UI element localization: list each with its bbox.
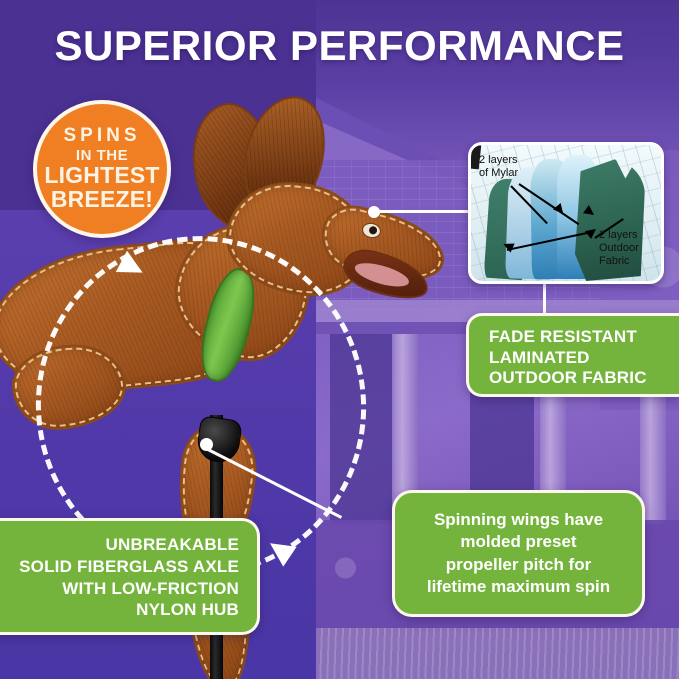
callout-spinning-wings: Spinning wings have molded preset propel…	[392, 490, 645, 617]
inset-label-fabric-line-3: Fabric	[599, 255, 639, 268]
callout-fabric-line-2: LAMINATED	[489, 348, 667, 369]
callout-spin-line-4: lifetime maximum spin	[407, 576, 630, 598]
callout-fabric-line-1: FADE RESISTANT	[489, 327, 667, 348]
callout-axle-line-4: NYLON HUB	[0, 599, 239, 621]
callout-spin-line-3: propeller pitch for	[407, 554, 630, 576]
callout-axle-line-3: WITH LOW-FRICTION	[0, 578, 239, 600]
inset-label-mylar-line-2: of Mylar	[479, 167, 518, 180]
inset-label-fabric-line-1: 2 layers	[599, 229, 639, 242]
wing-layers-inset: 2 layers of Mylar 2 layers Outdoor Fabri…	[468, 142, 664, 284]
page-title: SUPERIOR PERFORMANCE	[0, 22, 679, 70]
callout-axle-line-1: UNBREAKABLE	[0, 534, 239, 556]
infographic-canvas: SUPERIOR PERFORMANCE SPINS IN THE LIGHTE…	[0, 0, 679, 679]
callout-spin-line-1: Spinning wings have	[407, 509, 630, 531]
dog-tongue	[352, 258, 411, 291]
inset-label-mylar: 2 layers of Mylar	[479, 154, 518, 180]
inset-label-fabric-line-2: Outdoor	[599, 242, 639, 255]
callout-unbreakable-axle: UNBREAKABLE SOLID FIBERGLASS AXLE WITH L…	[0, 518, 260, 635]
callout-axle-line-2: SOLID FIBERGLASS AXLE	[0, 556, 239, 578]
callout-fabric-line-3: OUTDOOR FABRIC	[489, 368, 667, 389]
leader-line-head-to-inset	[374, 210, 478, 213]
leader-line-inset-to-callout	[543, 282, 546, 314]
callout-fade-resistant-fabric: FADE RESISTANT LAMINATED OUTDOOR FABRIC	[466, 313, 679, 397]
inset-label-fabric: 2 layers Outdoor Fabric	[599, 229, 639, 267]
callout-spin-line-2: molded preset	[407, 531, 630, 553]
inset-label-mylar-line-1: 2 layers	[479, 154, 518, 167]
